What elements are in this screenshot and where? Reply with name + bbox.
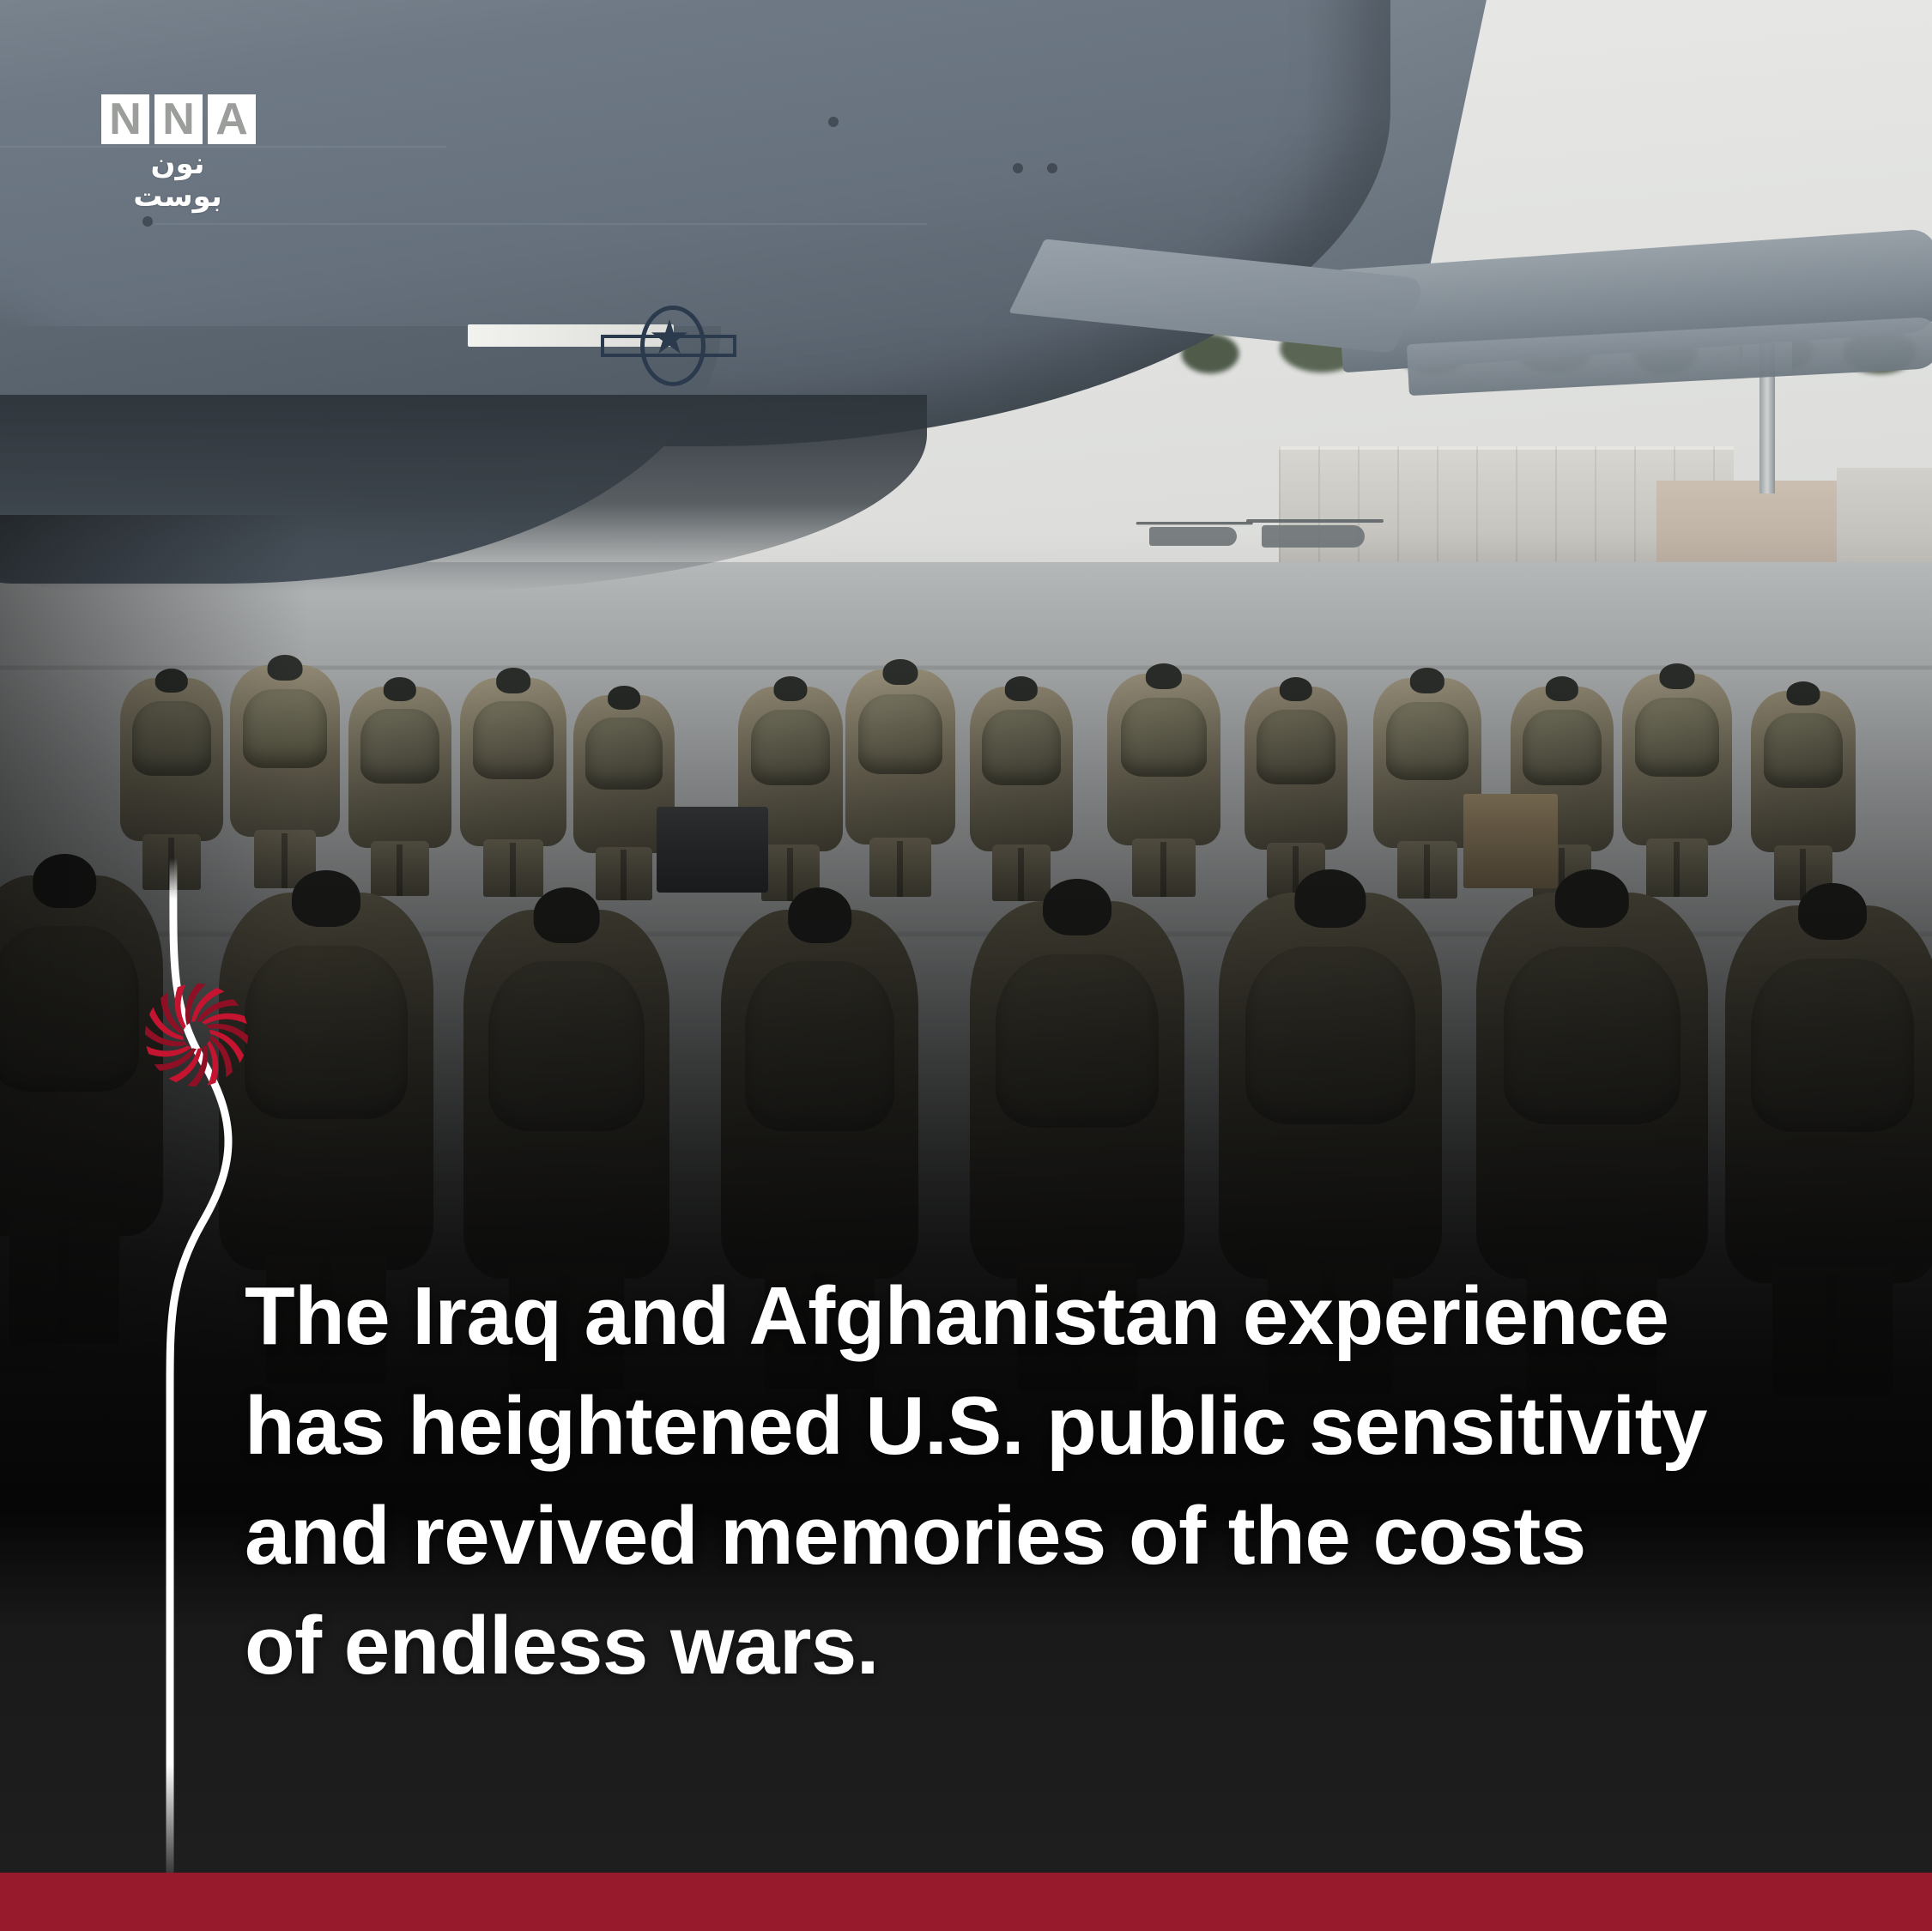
bottom-accent-bar: [0, 1873, 1932, 1931]
headline-line-2: has heightened U.S. public sensitivity: [245, 1371, 1635, 1481]
nna-logo-letter-1: N: [101, 94, 149, 144]
nna-logo-arabic-wordmark: نون بوست: [101, 148, 254, 180]
headline-text: The Iraq and Afghanistan experience has …: [245, 1262, 1635, 1701]
social-news-card: N N A نون بوست The Iraq and Afghanistan …: [0, 0, 1932, 1931]
spiral-blade: [175, 984, 186, 1030]
nna-logo[interactable]: N N A: [101, 94, 256, 144]
headline-line-4: of endless wars.: [245, 1591, 1635, 1701]
spiral-blade: [207, 1040, 218, 1086]
spiral-blade: [202, 1014, 247, 1025]
nna-logo-letter-2: N: [154, 94, 203, 144]
headline-line-1: The Iraq and Afghanistan experience: [245, 1262, 1635, 1371]
headline-line-3: and revived memories of the costs: [245, 1481, 1635, 1591]
nna-logo-letter-3: A: [208, 94, 256, 144]
red-spiral-emblem-icon[interactable]: [142, 980, 251, 1090]
spiral-blade: [146, 1045, 191, 1056]
